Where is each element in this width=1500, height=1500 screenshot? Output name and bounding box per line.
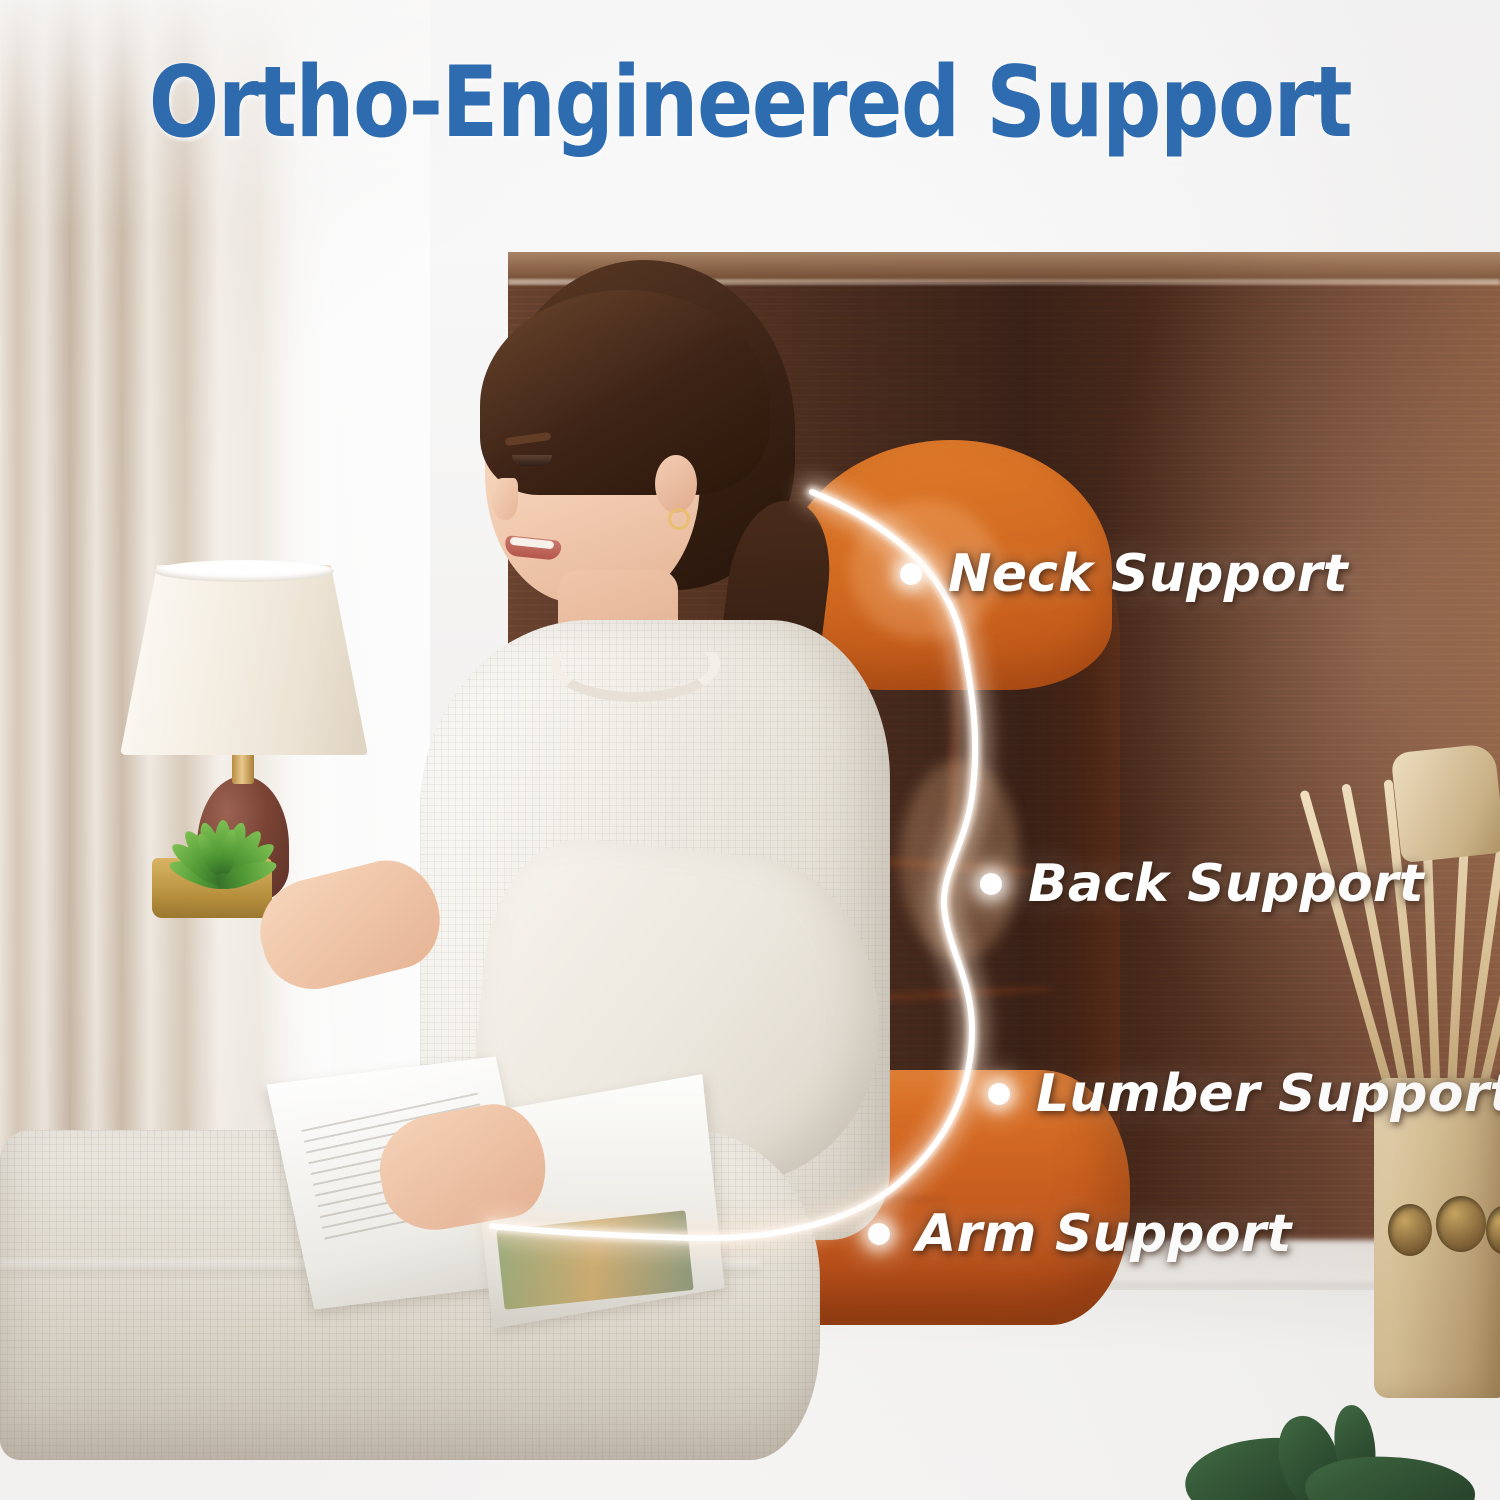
callout-arm-support: Arm Support [868, 1208, 1292, 1260]
callout-neck-support: Neck Support [900, 548, 1348, 600]
rattan-body [1374, 1078, 1500, 1398]
rattan-top-wrap [1391, 743, 1500, 863]
glow-dot-icon [980, 873, 1002, 895]
glow-dot-icon [868, 1223, 890, 1245]
ear [655, 455, 697, 513]
product-marketing-image: Neck Support Back Support Lumber Support… [0, 0, 1500, 1500]
succulent-plant [118, 790, 308, 886]
callout-label: Lumber Support [1036, 1068, 1500, 1120]
callout-label: Arm Support [916, 1208, 1292, 1260]
page-title: Ortho-Engineered Support [45, 52, 1455, 155]
glow-dot-icon [900, 563, 922, 585]
callout-lumber-support: Lumber Support [988, 1068, 1500, 1120]
callout-back-support: Back Support [980, 858, 1424, 910]
nose [492, 478, 518, 520]
monstera-leaf [1185, 1395, 1475, 1500]
woman-reading [300, 250, 920, 1400]
callout-label: Back Support [1028, 858, 1424, 910]
earring [668, 508, 690, 530]
glow-dot-icon [988, 1083, 1010, 1105]
callout-label: Neck Support [948, 548, 1348, 600]
eye [512, 455, 552, 466]
